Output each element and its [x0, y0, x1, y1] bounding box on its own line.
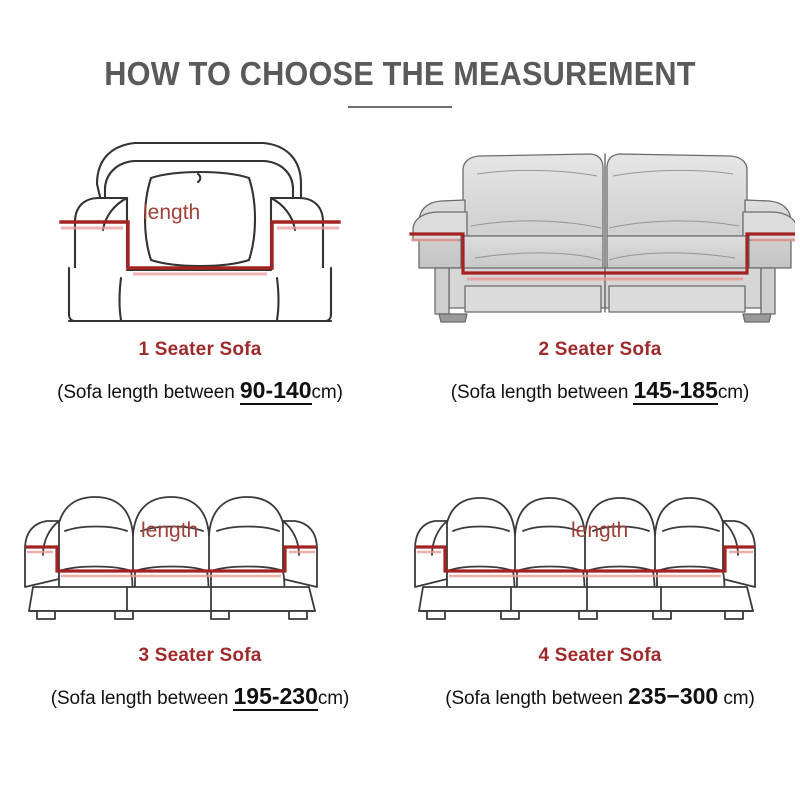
four-seater-title: 4 Seater Sofa	[539, 645, 662, 667]
caption-prefix: (Sofa length between	[451, 382, 634, 403]
four-seater-caption: (Sofa length between 235−300 cm)	[445, 683, 755, 710]
four-seater-line-art	[415, 498, 755, 619]
one-seater-illustration: length	[35, 118, 365, 333]
three-seater-illustration: length	[15, 475, 385, 635]
length-range: 145-185	[633, 377, 717, 405]
caption-suffix: cm)	[318, 688, 349, 709]
page-header: HOW TO CHOOSE THE MEASUREMENT	[0, 0, 800, 108]
one-seater-caption: (Sofa length between 90-140cm)	[57, 377, 343, 404]
caption-suffix: cm)	[718, 382, 749, 403]
three-seater-caption: (Sofa length between 195-230cm)	[51, 683, 350, 710]
length-range: 235−300	[628, 683, 718, 709]
three-seater-title: 3 Seater Sofa	[139, 645, 262, 667]
sofa-size-grid: length 1 Seater Sofa (Sofa length betwee…	[0, 108, 800, 800]
one-seater-title: 1 Seater Sofa	[139, 339, 262, 361]
length-range: 90-140	[240, 377, 312, 405]
two-seater-illustration	[405, 118, 795, 333]
measurement-guide-page: HOW TO CHOOSE THE MEASUREMENT	[0, 0, 800, 800]
panel-four-seater: length 4 Seater Sofa (Sofa length betwee…	[400, 459, 800, 800]
page-title: HOW TO CHOOSE THE MEASUREMENT	[28, 56, 772, 92]
panel-three-seater: length 3 Seater Sofa (Sofa length betwee…	[0, 459, 400, 800]
caption-suffix: cm)	[718, 688, 755, 709]
length-range: 195-230	[233, 683, 317, 711]
panel-two-seater: 2 Seater Sofa (Sofa length between 145-1…	[400, 118, 800, 459]
caption-prefix: (Sofa length between	[445, 688, 628, 709]
two-seater-photo-render	[413, 154, 795, 322]
caption-prefix: (Sofa length between	[51, 688, 234, 709]
caption-prefix: (Sofa length between	[57, 382, 240, 403]
panel-one-seater: length 1 Seater Sofa (Sofa length betwee…	[0, 118, 400, 459]
four-seater-illustration: length	[405, 475, 795, 635]
armchair-line-art	[69, 143, 331, 321]
two-seater-caption: (Sofa length between 145-185cm)	[451, 377, 750, 404]
three-seater-line-art	[25, 497, 317, 619]
two-seater-title: 2 Seater Sofa	[539, 339, 662, 361]
caption-suffix: cm)	[312, 382, 343, 403]
